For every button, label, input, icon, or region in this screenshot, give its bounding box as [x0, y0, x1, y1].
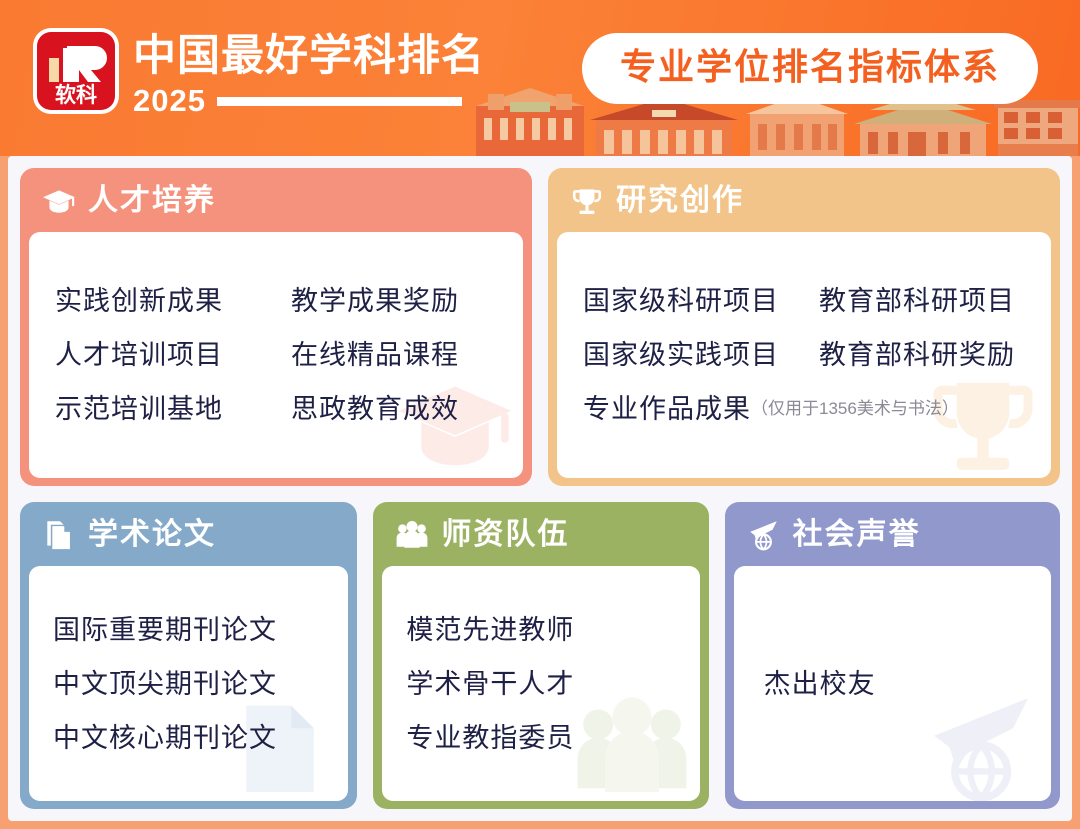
item-label: 中文顶尖期刊论文 — [53, 657, 324, 711]
card-reputation[interactable]: 社会声誉 杰出校友 — [725, 502, 1060, 809]
item-label: 国际重要期刊论文 — [53, 603, 324, 657]
item-label: 教育部科研奖励 — [819, 328, 1015, 382]
card-papers-body: 国际重要期刊论文 中文顶尖期刊论文 中文核心期刊论文 — [29, 566, 348, 801]
card-papers-items: 国际重要期刊论文 中文顶尖期刊论文 中文核心期刊论文 — [29, 603, 348, 765]
logo-mark: 软科 — [37, 32, 115, 110]
item-row: 专业作品成果 （仅用于1356美术与书法） — [583, 382, 1025, 436]
card-papers[interactable]: 学术论文 国际重要期刊论文 中文顶尖期刊论文 中文核心期刊论文 — [20, 502, 357, 809]
item-row: 人才培训项目 在线精品课程 — [55, 328, 497, 382]
card-faculty-items: 模范先进教师 学术骨干人才 专业教指委员 — [382, 603, 699, 765]
card-talent-header: 人才培养 — [20, 168, 532, 232]
page-title-badge: 专业学位排名指标体系 — [582, 33, 1038, 104]
card-row-top: 人才培养 实践创新成果 教学成果奖励 人才培训项目 — [20, 168, 1060, 486]
card-faculty-header: 师资队伍 — [373, 502, 708, 566]
item-row: 国家级科研项目 教育部科研项目 — [583, 274, 1025, 328]
airplane-globe-icon — [747, 518, 781, 552]
item-row: 示范培训基地 思政教育成效 — [55, 382, 497, 436]
indicator-board: 人才培养 实践创新成果 教学成果奖励 人才培训项目 — [8, 156, 1072, 821]
card-reputation-header: 社会声誉 — [725, 502, 1060, 566]
card-research-items: 国家级科研项目 教育部科研项目 国家级实践项目 教育部科研奖励 专业作品成果 （… — [557, 274, 1051, 436]
card-row-bottom: 学术论文 国际重要期刊论文 中文顶尖期刊论文 中文核心期刊论文 — [20, 502, 1060, 809]
card-research[interactable]: 研究创作 国家级科研项目 教育部科研项目 — [548, 168, 1060, 486]
card-talent-items: 实践创新成果 教学成果奖励 人才培训项目 在线精品课程 示范培训基地 思政教育成… — [29, 274, 523, 436]
item-row: 国家级实践项目 教育部科研奖励 — [583, 328, 1025, 382]
item-label: 思政教育成效 — [291, 382, 459, 436]
card-talent-body: 实践创新成果 教学成果奖励 人才培训项目 在线精品课程 示范培训基地 思政教育成… — [29, 232, 523, 478]
card-faculty[interactable]: 师资队伍 模范先进教师 学术骨干人才 专业教指委员 — [373, 502, 708, 809]
card-research-header: 研究创作 — [548, 168, 1060, 232]
item-label: 学术骨干人才 — [406, 657, 675, 711]
item-label: 杰出校友 — [764, 661, 1021, 707]
item-label: 教学成果奖励 — [291, 274, 459, 328]
card-research-title: 研究创作 — [616, 184, 744, 218]
infographic-page: 软科 中国最好学科排名 2025 专业学位排名指标体系 — [0, 0, 1080, 829]
document-icon — [42, 518, 76, 552]
item-label: 实践创新成果 — [55, 274, 291, 328]
card-papers-header: 学术论文 — [20, 502, 357, 566]
card-research-body: 国家级科研项目 教育部科研项目 国家级实践项目 教育部科研奖励 专业作品成果 （… — [557, 232, 1051, 478]
item-label: 人才培训项目 — [55, 328, 291, 382]
card-talent[interactable]: 人才培养 实践创新成果 教学成果奖励 人才培训项目 — [20, 168, 532, 486]
item-note: （仅用于1356美术与书法） — [751, 382, 959, 436]
card-reputation-body: 杰出校友 — [734, 566, 1051, 801]
brand-year: 2025 — [133, 84, 206, 118]
item-label: 国家级科研项目 — [583, 274, 819, 328]
page-title: 专业学位排名指标体系 — [620, 44, 1000, 90]
item-label: 在线精品课程 — [291, 328, 459, 382]
item-label: 中文核心期刊论文 — [53, 711, 324, 765]
card-papers-title: 学术论文 — [88, 518, 216, 552]
card-faculty-title: 师资队伍 — [441, 518, 569, 552]
ruanke-logo: 软科 — [33, 28, 119, 114]
card-reputation-items: 杰出校友 — [734, 661, 1051, 707]
item-label: 模范先进教师 — [406, 603, 675, 657]
trophy-icon — [570, 184, 604, 218]
brand-title: 中国最好学科排名 — [133, 30, 485, 82]
item-row: 实践创新成果 教学成果奖励 — [55, 274, 497, 328]
item-label: 专业教指委员 — [406, 711, 675, 765]
graduation-cap-icon — [42, 184, 76, 218]
item-label: 国家级实践项目 — [583, 328, 819, 382]
brand-rule — [217, 97, 462, 106]
item-label: 教育部科研项目 — [819, 274, 1015, 328]
header-banner: 软科 中国最好学科排名 2025 专业学位排名指标体系 — [0, 0, 1080, 156]
card-reputation-title: 社会声誉 — [793, 518, 921, 552]
svg-text:软科: 软科 — [55, 83, 97, 107]
people-icon — [395, 518, 429, 552]
card-faculty-body: 模范先进教师 学术骨干人才 专业教指委员 — [382, 566, 699, 801]
item-label: 示范培训基地 — [55, 382, 291, 436]
item-label: 专业作品成果 — [583, 382, 751, 436]
card-talent-title: 人才培养 — [88, 184, 216, 218]
brand-lockup: 软科 中国最好学科排名 2025 — [33, 28, 485, 118]
